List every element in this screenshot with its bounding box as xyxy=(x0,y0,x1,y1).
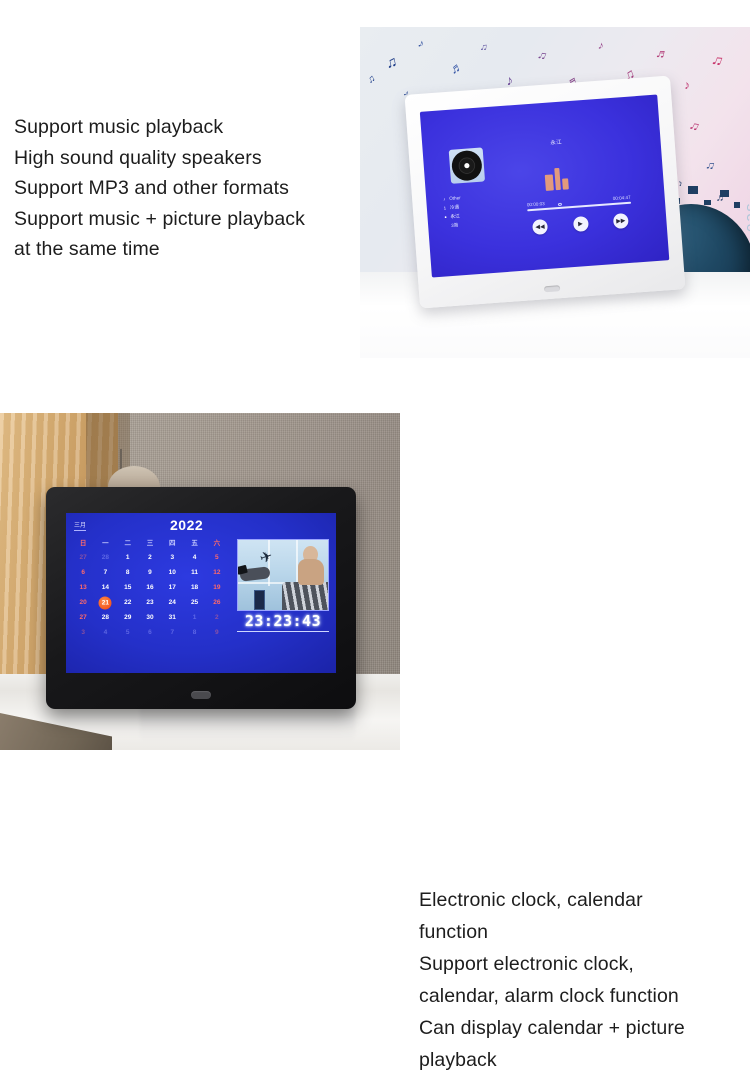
feature-line: playback xyxy=(419,1044,739,1076)
progress-knob[interactable] xyxy=(558,203,562,206)
calendar-day[interactable]: 20 xyxy=(72,598,94,607)
playback-progress[interactable]: 00:00:03 00:04:47 xyxy=(527,195,631,212)
luggage-item xyxy=(254,590,265,610)
calendar-day[interactable]: 28 xyxy=(94,553,116,562)
feature-line: Can display calendar + picture xyxy=(419,1012,739,1044)
feature-line: Electronic clock, calendar xyxy=(419,884,739,916)
calendar-day[interactable]: 25 xyxy=(183,598,205,607)
clock-feature-section: 三月 2022 日 一 二 三 四 五 六 27 28 1 2 3 4 5 xyxy=(0,400,750,750)
calendar-day[interactable]: 23 xyxy=(139,598,161,607)
music-feature-text-block: Support music playback High sound qualit… xyxy=(14,112,364,265)
calendar-day[interactable]: 22 xyxy=(117,598,139,607)
music-note-icon: ♫ xyxy=(385,54,399,71)
white-digital-photo-frame: ♪ Other 1 冷遇 ● 永江 3首 xyxy=(405,76,686,309)
calendar-day[interactable]: 31 xyxy=(161,613,183,622)
traveler-torso xyxy=(298,559,324,585)
calendar-day[interactable]: 27 xyxy=(72,613,94,622)
calendar-day[interactable]: 28 xyxy=(94,613,116,622)
calendar-day[interactable]: 4 xyxy=(183,553,205,562)
play-icon: ▶ xyxy=(578,221,583,227)
music-note-icon: ♫ xyxy=(688,118,702,134)
feature-line: Support music playback xyxy=(14,112,364,143)
elapsed-time: 00:00:03 xyxy=(527,201,545,207)
calendar-day[interactable]: 9 xyxy=(206,628,228,637)
song-title: 永江 xyxy=(550,138,562,147)
calendar-day[interactable]: 14 xyxy=(94,583,116,592)
slideshow-photo-panel: ✈ xyxy=(237,539,329,611)
calendar-day[interactable]: 30 xyxy=(139,613,161,622)
white-frame-bezel: ♪ Other 1 冷遇 ● 永江 3首 xyxy=(405,76,686,309)
calendar-weekday-header: 六 xyxy=(206,537,228,547)
equalizer-icon xyxy=(542,165,574,191)
feature-line: function xyxy=(419,916,739,948)
music-product-photo: ♫ ♪ ♬ ♫ ♪ ♫ ♬ ♪ ♫ ♬ ♪ ♫ ♪ ♫ ♬ ♪ ♫ ♬ ♫ ♪ … xyxy=(360,27,750,358)
track-marker: ♪ xyxy=(442,194,447,203)
calendar-clock-screen: 三月 2022 日 一 二 三 四 五 六 27 28 1 2 3 4 5 xyxy=(66,513,336,673)
feature-line: High sound quality speakers xyxy=(14,143,364,174)
previous-button[interactable]: ◀◀ xyxy=(532,219,548,235)
calendar-day[interactable]: 7 xyxy=(94,568,116,577)
calendar-day[interactable]: 5 xyxy=(206,553,228,562)
calendar-day-today[interactable]: 21 xyxy=(94,598,116,607)
calendar-day[interactable]: 1 xyxy=(183,613,205,622)
track-marker: 1 xyxy=(443,203,448,212)
calendar-day[interactable]: 8 xyxy=(117,568,139,577)
calendar-day[interactable]: 5 xyxy=(117,628,139,637)
calendar-day[interactable]: 6 xyxy=(139,628,161,637)
total-time: 00:04:47 xyxy=(613,195,631,201)
track-marker: ● xyxy=(443,212,448,221)
calendar-day[interactable]: 11 xyxy=(183,568,205,577)
black-digital-photo-frame: 三月 2022 日 一 二 三 四 五 六 27 28 1 2 3 4 5 xyxy=(46,487,356,709)
music-note-icon: ♫ xyxy=(710,52,726,70)
music-note-icon: ♫ xyxy=(366,74,377,86)
music-player-screen: ♪ Other 1 冷遇 ● 永江 3首 xyxy=(420,95,670,278)
music-note-icon: ♫ xyxy=(479,43,488,54)
calendar-month-label: 三月 xyxy=(74,520,86,531)
calendar-day[interactable]: 2 xyxy=(206,613,228,622)
feature-line: at the same time xyxy=(14,234,364,265)
track-label: 永江 xyxy=(450,211,460,221)
feature-line: Support music + picture playback xyxy=(14,204,364,235)
feature-line: calendar, alarm clock function xyxy=(419,980,739,1012)
calendar-year-label: 2022 xyxy=(170,517,203,533)
calendar-day[interactable]: 26 xyxy=(206,598,228,607)
music-note-icon: ♬ xyxy=(655,46,671,62)
calendar-weekday-header: 三 xyxy=(139,537,161,547)
music-note-icon: ♫ xyxy=(705,158,717,172)
next-icon: ▶▶ xyxy=(616,218,626,225)
clock-product-photo: 三月 2022 日 一 二 三 四 五 六 27 28 1 2 3 4 5 xyxy=(0,413,400,750)
music-note-icon: ♪ xyxy=(597,41,604,53)
music-feature-section: Support music playback High sound qualit… xyxy=(0,0,750,400)
calendar-day[interactable]: 24 xyxy=(161,598,183,607)
calendar-day[interactable]: 16 xyxy=(139,583,161,592)
calendar-grid: 日 一 二 三 四 五 六 27 28 1 2 3 4 5 6 7 8 xyxy=(72,537,228,637)
music-note-icon: ♪ xyxy=(505,73,514,88)
calendar-day[interactable]: 15 xyxy=(117,583,139,592)
calendar-day[interactable]: 4 xyxy=(94,628,116,637)
previous-icon: ◀◀ xyxy=(535,224,545,231)
calendar-day[interactable]: 2 xyxy=(139,553,161,562)
calendar-day[interactable]: 12 xyxy=(206,568,228,577)
calendar-day[interactable]: 13 xyxy=(72,583,94,592)
calendar-weekday-header: 二 xyxy=(117,537,139,547)
calendar-weekday-header: 一 xyxy=(94,537,116,547)
feature-line: Support MP3 and other formats xyxy=(14,173,364,204)
calendar-day[interactable]: 3 xyxy=(161,553,183,562)
calendar-day[interactable]: 17 xyxy=(161,583,183,592)
calendar-day[interactable]: 29 xyxy=(117,613,139,622)
frame-power-button[interactable] xyxy=(191,691,211,699)
calendar-day[interactable]: 10 xyxy=(161,568,183,577)
music-note-icon: ♪ xyxy=(683,79,690,92)
playlist[interactable]: ♪ Other 1 冷遇 ● 永江 3首 xyxy=(442,190,508,231)
calendar-weekday-header: 四 xyxy=(161,537,183,547)
calendar-weekday-header: 日 xyxy=(72,537,94,547)
track-label: Other xyxy=(449,193,461,203)
clock-feature-text-block: Electronic clock, calendar function Supp… xyxy=(419,884,739,1076)
digital-clock-readout: 23:23:43 xyxy=(237,612,329,632)
music-note-icon: ♫ xyxy=(536,48,549,62)
album-art-thumbnail xyxy=(449,147,485,183)
seated-traveler xyxy=(290,546,324,602)
today-number: 21 xyxy=(99,596,112,609)
music-note-icon: ♪ xyxy=(416,38,425,50)
calendar-day[interactable]: 18 xyxy=(183,583,205,592)
calendar-weekday-header: 五 xyxy=(183,537,205,547)
feature-line: Support electronic clock, xyxy=(419,948,739,980)
calendar-day[interactable]: 1 xyxy=(117,553,139,562)
speaker-brand-label: seo xyxy=(743,204,750,234)
play-button[interactable]: ▶ xyxy=(572,216,588,232)
calendar-day[interactable]: 9 xyxy=(139,568,161,577)
calendar-day[interactable]: 3 xyxy=(72,628,94,637)
calendar-day[interactable]: 19 xyxy=(206,583,228,592)
calendar-day[interactable]: 27 xyxy=(72,553,94,562)
next-button[interactable]: ▶▶ xyxy=(613,213,629,229)
track-label: 3首 xyxy=(451,220,459,229)
frame-power-button[interactable] xyxy=(544,285,560,292)
vinyl-record-icon xyxy=(451,150,483,182)
calendar-day[interactable]: 8 xyxy=(183,628,205,637)
calendar-day[interactable]: 7 xyxy=(161,628,183,637)
playback-controls[interactable]: ◀◀ ▶ ▶▶ xyxy=(532,213,629,235)
music-note-icon: ♬ xyxy=(448,59,465,76)
calendar-day[interactable]: 6 xyxy=(72,568,94,577)
